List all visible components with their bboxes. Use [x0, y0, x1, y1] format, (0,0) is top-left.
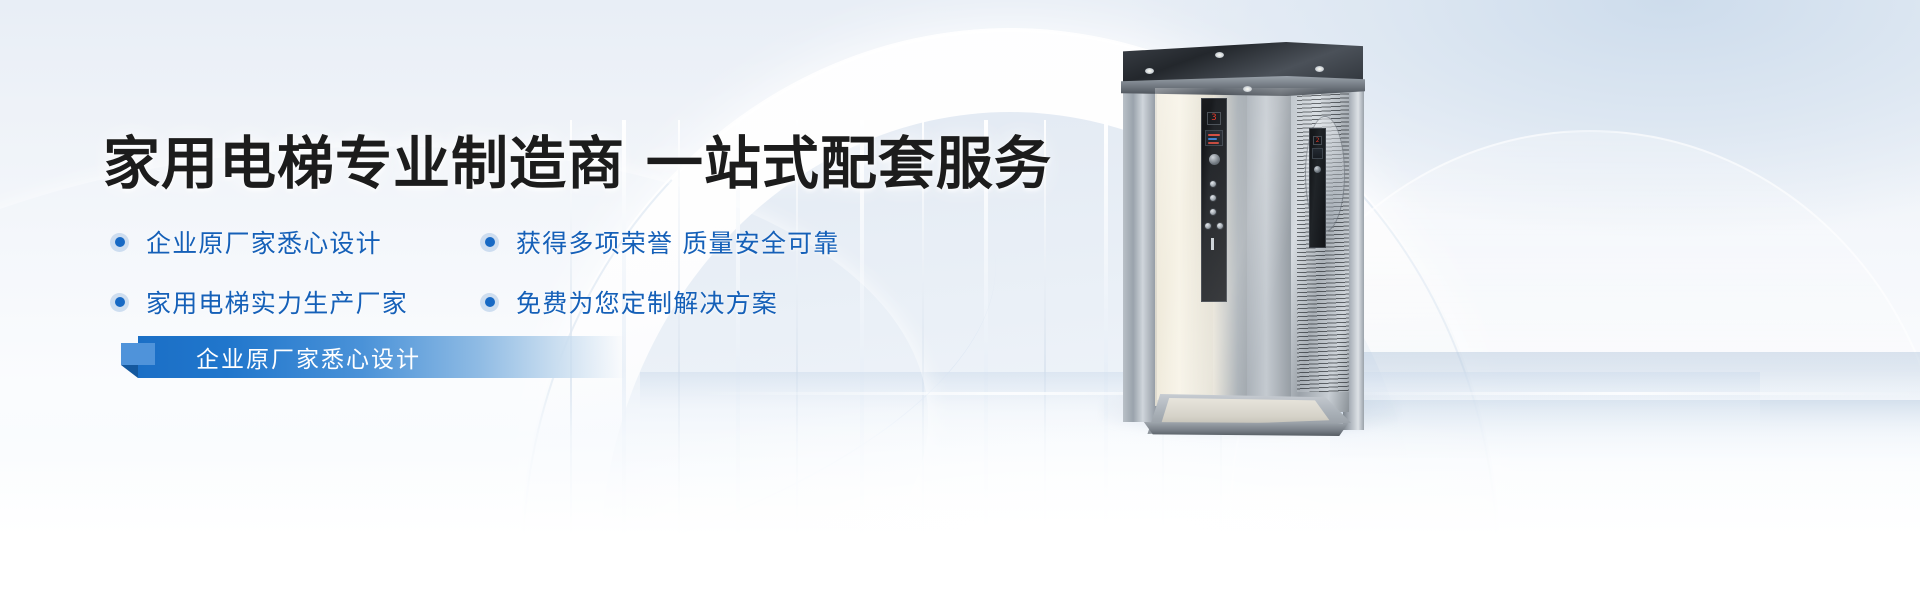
feature-item-2: 获得多项荣誉 质量安全可靠 — [480, 212, 880, 272]
feature-list: 企业原厂家悉心设计 获得多项荣誉 质量安全可靠 家用电梯实力生产厂家 免费为您定… — [110, 212, 930, 332]
ribbon-fold-icon — [121, 365, 138, 378]
highlight-ribbon: 企业原厂家悉心设计 — [113, 336, 733, 388]
feature-item-4: 免费为您定制解决方案 — [480, 272, 880, 332]
bullet-dot-icon — [480, 233, 499, 252]
ribbon-bar: 企业原厂家悉心设计 — [138, 336, 625, 378]
promo-banner: 3 2 — [0, 0, 1920, 600]
banner-content: 家用电梯专业制造商 一站式配套服务 企业原厂家悉心设计 获得多项荣誉 质量安全可… — [0, 0, 1920, 600]
feature-label: 免费为您定制解决方案 — [516, 284, 778, 320]
bullet-dot-icon — [110, 233, 129, 252]
bullet-dot-icon — [110, 293, 129, 312]
feature-item-3: 家用电梯实力生产厂家 — [110, 272, 480, 332]
feature-label: 企业原厂家悉心设计 — [146, 224, 382, 260]
feature-item-1: 企业原厂家悉心设计 — [110, 212, 480, 272]
feature-label: 获得多项荣誉 质量安全可靠 — [516, 224, 840, 260]
bullet-dot-icon — [480, 293, 499, 312]
ribbon-label: 企业原厂家悉心设计 — [138, 340, 421, 374]
feature-label: 家用电梯实力生产厂家 — [146, 284, 408, 320]
page-title: 家用电梯专业制造商 一站式配套服务 — [103, 118, 1052, 200]
ribbon-flag-icon — [121, 343, 155, 365]
